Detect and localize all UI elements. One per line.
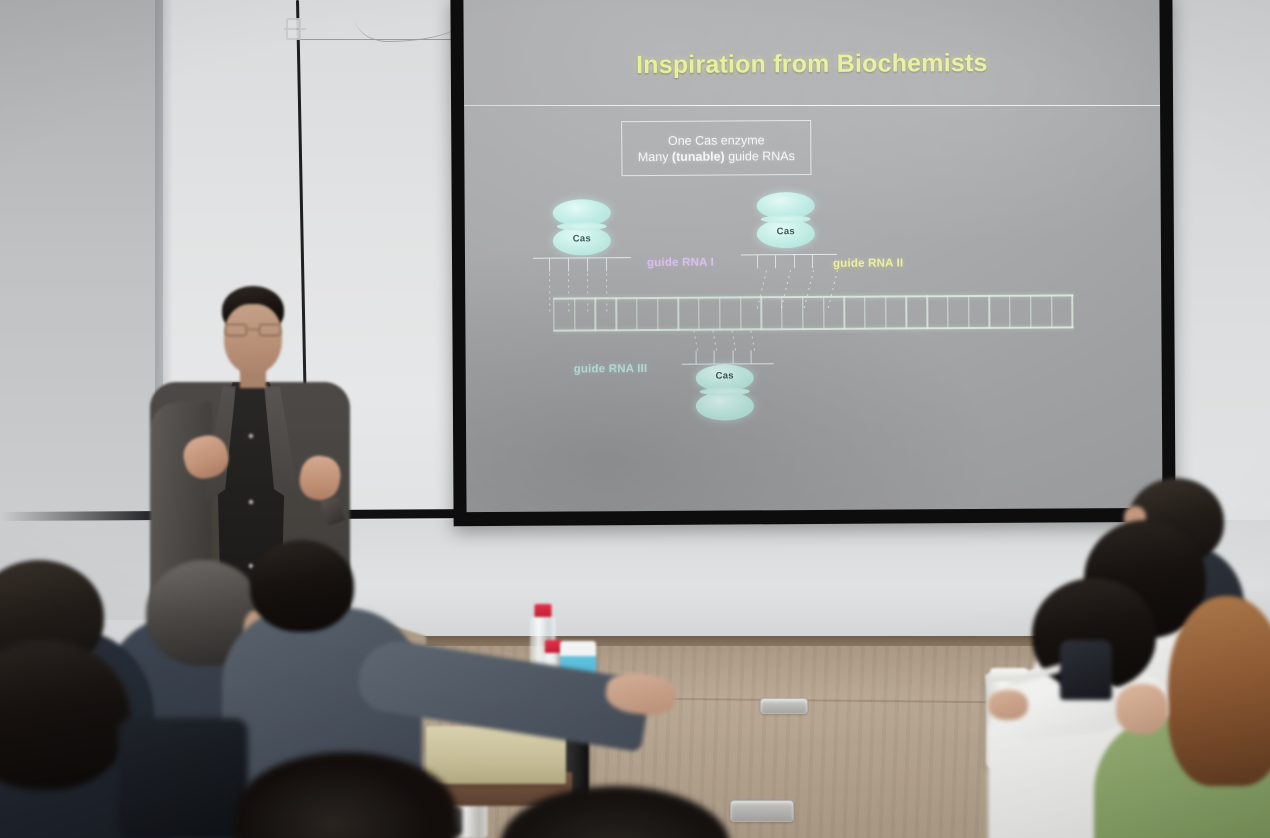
guide-rna-3-pairing-dots xyxy=(694,330,756,352)
projection-screen-frame: Inspiration from Biochemists One Cas enz… xyxy=(450,0,1175,526)
audience-right-3-hand xyxy=(1116,684,1168,734)
projection-screen: Inspiration from Biochemists One Cas enz… xyxy=(463,0,1162,512)
wall-left-panel xyxy=(0,0,163,620)
laptop-or-bag xyxy=(118,718,248,838)
cable-clip xyxy=(286,18,301,40)
cas-protein-2-label: Cas xyxy=(757,226,815,237)
bottle-cap xyxy=(535,604,552,617)
cable-grommet-2 xyxy=(730,800,794,822)
crispr-diagram: Cas guide RNA I xyxy=(463,0,1162,512)
cas-protein-1: Cas xyxy=(553,199,611,255)
cas-protein-2: Cas xyxy=(757,192,815,248)
guide-rna-3-label: guide RNA III xyxy=(574,363,648,375)
dna-duplex xyxy=(553,294,1073,331)
presenter-face xyxy=(224,304,282,374)
presenter-glasses xyxy=(224,324,282,336)
audience-right-3-head xyxy=(1168,596,1270,786)
cas-protein-3: Cas xyxy=(696,364,754,420)
audience-right-4-hand xyxy=(988,690,1028,720)
cas-protein-3-group: Cas xyxy=(688,344,754,420)
guide-rna-2-label: guide RNA II xyxy=(833,257,903,269)
cas-protein-2-group: Cas xyxy=(757,192,815,248)
guide-rna-1-label: guide RNA I xyxy=(647,257,714,269)
cas-protein-1-group: Cas xyxy=(553,199,611,255)
cas-protein-3-label: Cas xyxy=(696,370,754,381)
wall-right-panel xyxy=(1166,0,1270,560)
photo-scene: Inspiration from Biochemists One Cas enz… xyxy=(0,0,1270,838)
guide-rna-2-ticks xyxy=(757,255,813,268)
cable-grommet-1 xyxy=(760,698,808,714)
guide-rna-3-ticks xyxy=(696,350,752,363)
cas-lobe-bottom xyxy=(696,391,754,420)
cas-protein-1-label: Cas xyxy=(553,233,611,244)
audience-right-dark-sleeve xyxy=(1060,640,1112,700)
dna-base-pairs xyxy=(553,294,1073,331)
guide-rna-1-ticks xyxy=(549,258,607,271)
audience-left-5-head xyxy=(250,540,354,632)
